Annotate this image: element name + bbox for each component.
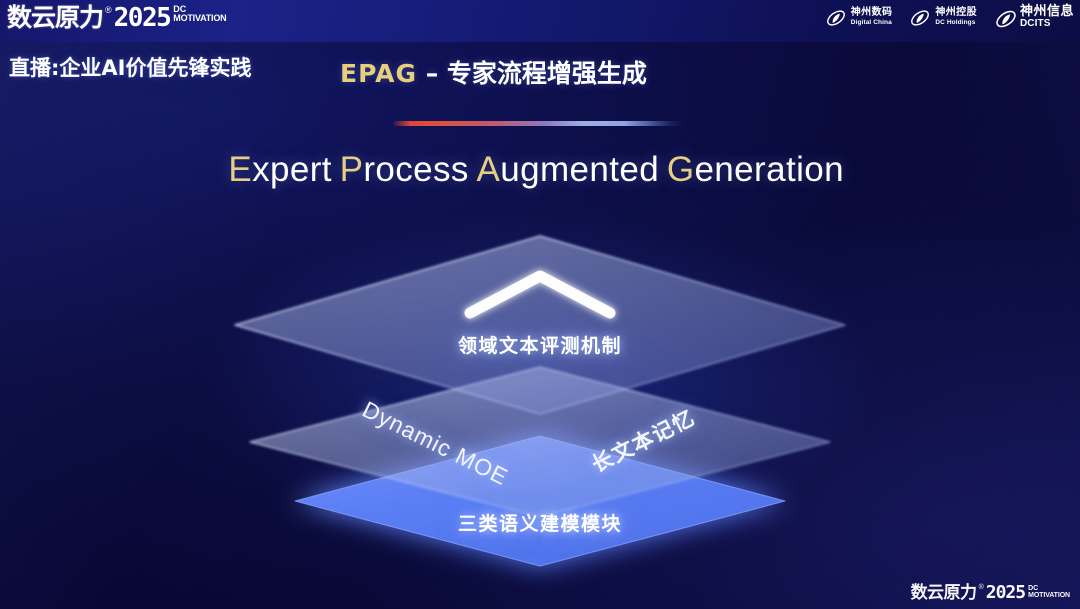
swirl-logo-icon [909,7,931,29]
top-brand-bar: 数云原力 ® 2025 DC MOTIVATION 神州数码 Digital C… [0,0,1080,42]
logo-dc-holdings: 神州控股 DC Holdings [909,7,977,29]
layer-bottom-label: 三类语义建模模块 [0,509,1080,536]
english-word-1-cap: E [228,150,252,189]
live-stream-title: 直播:企业AI价值先锋实践 [9,52,251,82]
logo-label-cn: 神州控股 [935,8,977,18]
footer-watermark-logo: 数云原力 ® 2025 DC MOTIVATION [911,583,1070,603]
english-word-3: Augmented [477,150,660,189]
logo-dcits: DCITS 神州信息 [994,6,1074,30]
page-title-separator: – [417,59,447,88]
logo-label-en: Digital China [851,18,893,28]
english-word-1-rest: xpert [252,150,332,189]
english-word-3-cap: A [477,150,501,189]
english-word-4-cap: G [667,150,695,189]
brand-registered-mark: ® [105,3,112,17]
brand-name-cn: 数云原力 [7,3,103,33]
english-word-2-cap: P [340,150,364,189]
logo-label-cn: 神州信息 [1020,6,1074,18]
english-word-2-rest: rocess [363,150,469,189]
watermark-motivation-label: MOTIVATION [1028,592,1070,599]
swirl-logo-icon [994,7,1016,29]
brand-dc-motivation: DC MOTIVATION [173,5,226,23]
english-word-3-rest: ugmented [500,150,659,189]
watermark-registered: ® [979,583,984,593]
logo-label-en: DCITS [1020,18,1074,30]
english-word-2: Process [340,150,469,189]
logo-label-en: DC Holdings [935,18,977,28]
watermark-dc-motivation: DC MOTIVATION [1028,585,1070,599]
event-brand-logo: 数云原力 ® 2025 DC MOTIVATION [7,3,226,33]
english-subtitle: ExpertProcessAugmentedGeneration [0,150,1080,190]
brand-year: 2025 [114,3,171,33]
brand-motivation-label: MOTIVATION [173,14,226,23]
watermark-dc-label: DC [1028,585,1070,592]
gradient-divider [393,121,683,126]
english-word-4-rest: eneration [694,150,844,189]
logo-label-cn: 神州数码 [851,8,893,18]
partner-logo-group: 神州数码 Digital China 神州控股 DC Holdings [825,6,1074,30]
page-title-chinese: 专家流程增强生成 [447,59,647,88]
page-title-acronym: EPAG [340,59,417,88]
layer-top-label: 领域文本评测机制 [0,331,1080,358]
english-word-1: Expert [228,150,332,189]
watermark-brand-cn: 数云原力 [911,583,977,603]
english-word-4: Generation [667,150,844,189]
logo-digital-china: 神州数码 Digital China [825,7,893,29]
swirl-logo-icon [825,7,847,29]
page-title: EPAG – 专家流程增强生成 [340,54,647,90]
watermark-year: 2025 [986,583,1025,603]
